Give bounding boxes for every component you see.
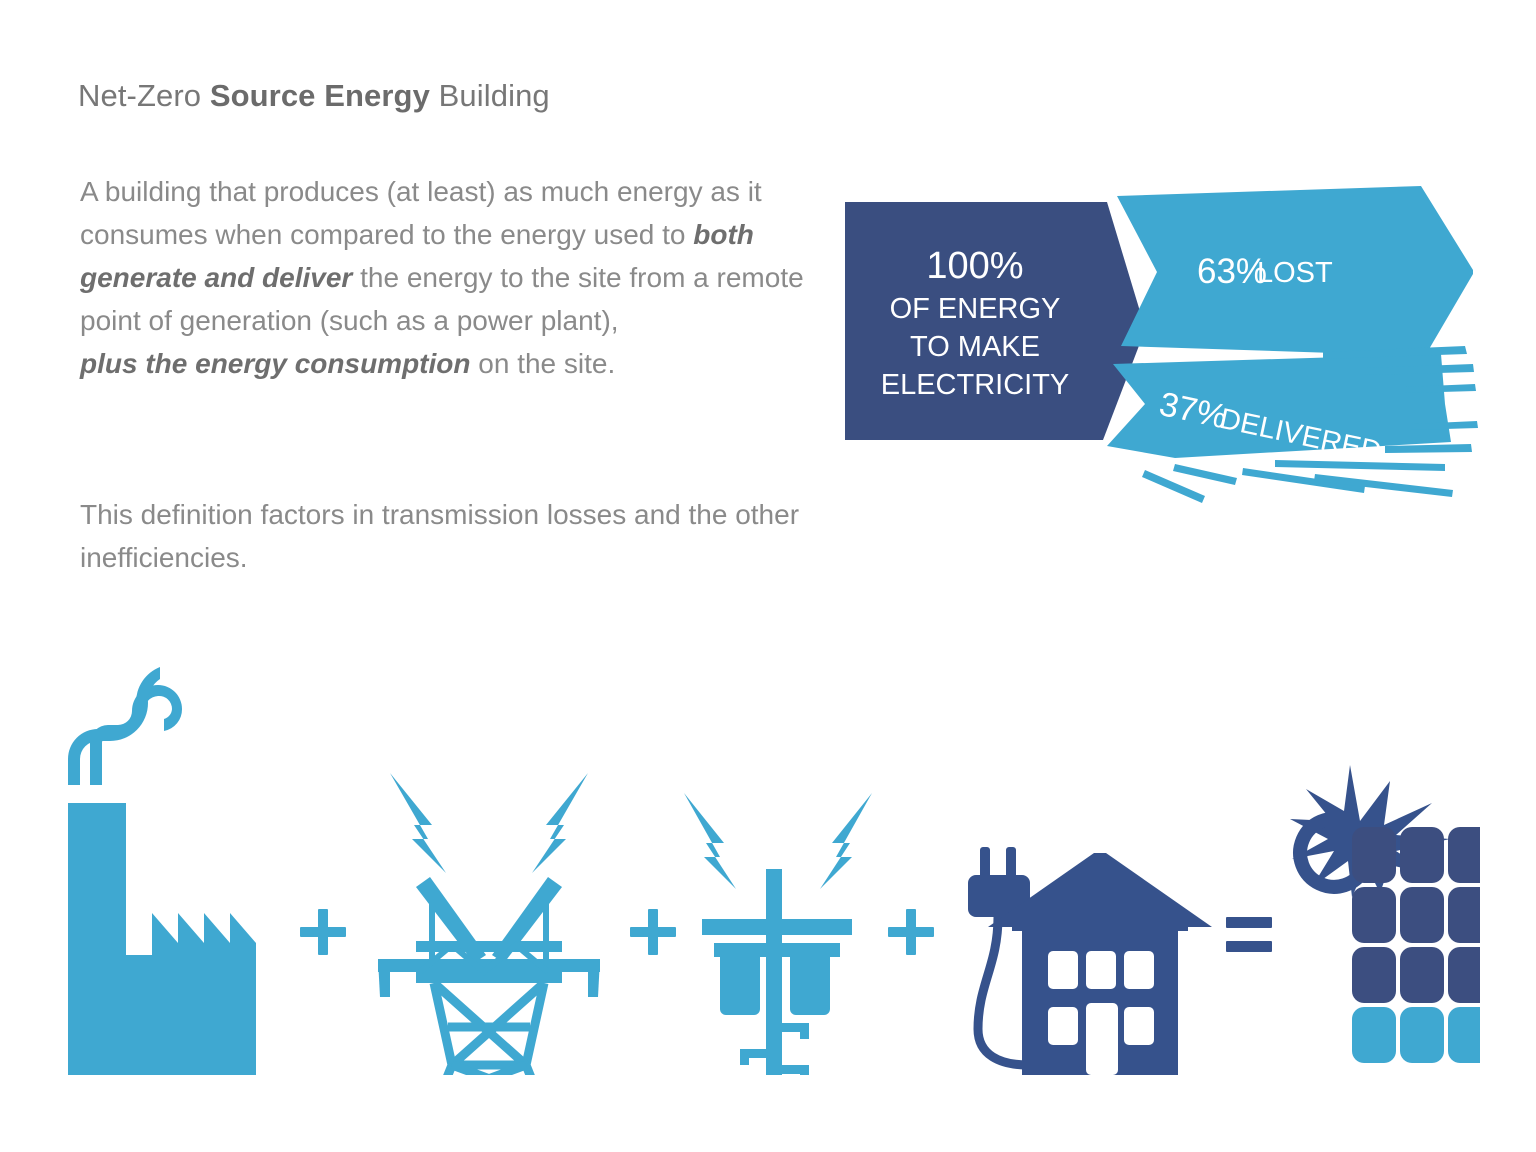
operator-plus-3 xyxy=(888,909,934,955)
building-icon xyxy=(968,847,1212,1075)
operator-plus-1 xyxy=(300,909,346,955)
source-line-2: TO MAKE xyxy=(910,331,1040,363)
source-line-3: ELECTRICITY xyxy=(881,369,1070,401)
definition-paragraph: A building that produces (at least) as m… xyxy=(80,170,810,385)
transmission-tower-icon xyxy=(378,773,600,1075)
definition-segment-1: A building that produces (at least) as m… xyxy=(80,176,762,250)
lost-word-label: LOST xyxy=(1257,257,1333,289)
definition-segment-3: on the site. xyxy=(470,348,615,379)
note-paragraph: This definition factors in transmission … xyxy=(80,493,810,579)
solar-cell-grid xyxy=(1352,827,1480,1063)
title-part-2: Building xyxy=(430,78,550,113)
utility-pole-icon xyxy=(684,793,872,1075)
page-title: Net-Zero Source Energy Building xyxy=(78,78,550,114)
operator-plus-2 xyxy=(630,909,676,955)
source-line-1: OF ENERGY xyxy=(890,293,1061,325)
source-percent-label: 100% xyxy=(926,245,1023,287)
solar-panel-icon xyxy=(1290,765,1480,1063)
lightning-bolt-right-2 xyxy=(820,793,872,889)
title-emphasis: Source Energy xyxy=(210,78,430,113)
lightning-bolt-right xyxy=(532,773,588,873)
power-plant-icon xyxy=(68,667,268,1075)
energy-flow-diagram: 100% OF ENERGY TO MAKE ELECTRICITY 63% L… xyxy=(845,178,1485,508)
operator-equals xyxy=(1226,917,1272,952)
title-part-1: Net-Zero xyxy=(78,78,210,113)
equation-row xyxy=(60,625,1480,1075)
lightning-bolt-left xyxy=(390,773,446,873)
lightning-bolt-left-2 xyxy=(684,793,736,889)
definition-emphasis-2: plus the energy consumption xyxy=(80,348,470,379)
